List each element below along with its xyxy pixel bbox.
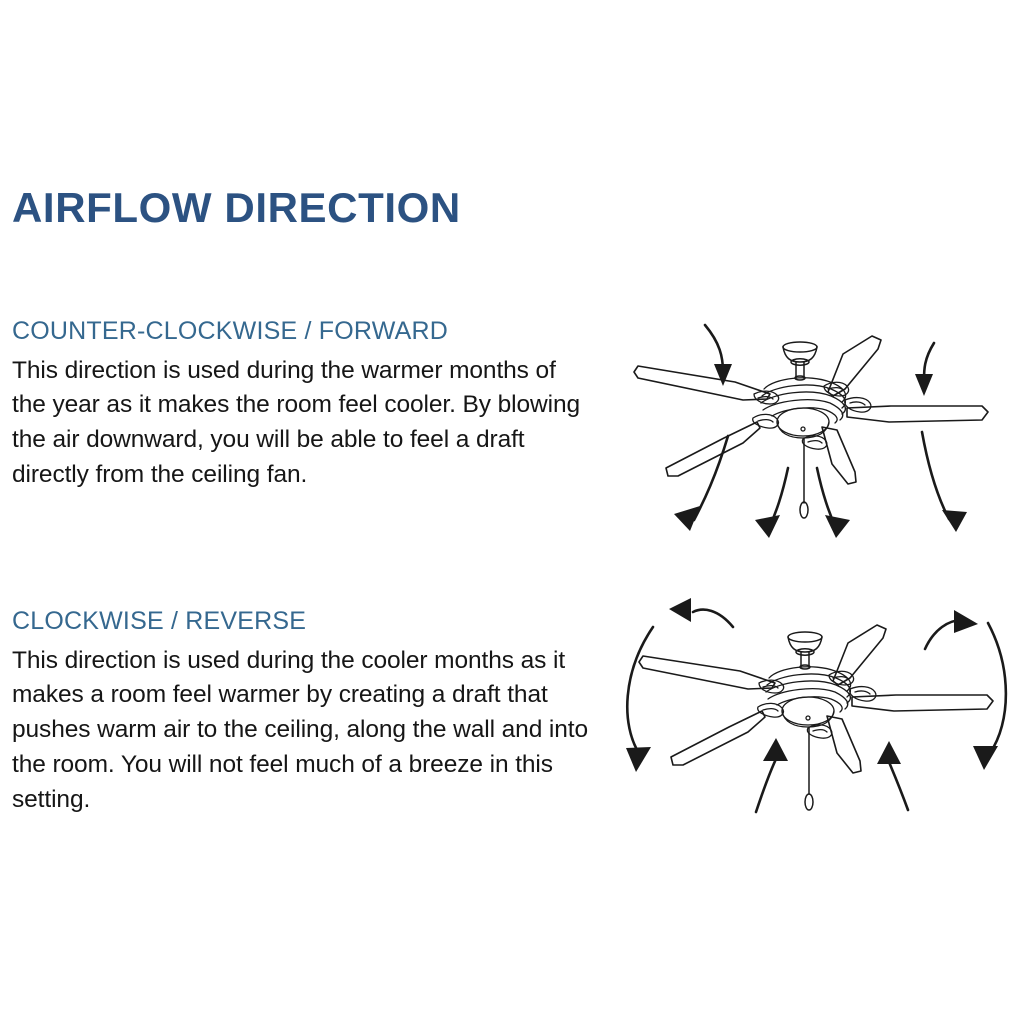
air-intake-arrow-top-left: [705, 325, 732, 386]
page-title: AIRFLOW DIRECTION: [12, 186, 461, 230]
air-intake-arrow-top-right: [915, 343, 934, 396]
section-heading-clockwise-reverse: CLOCKWISE / REVERSE: [12, 608, 592, 636]
ceiling-fan-downdraft-diagram: [604, 316, 1016, 568]
fan-canopy-downrod: [788, 632, 822, 669]
downdraft-arrow-right: [922, 432, 967, 532]
section-clockwise-reverse: CLOCKWISE / REVERSE This direction is us…: [12, 608, 592, 817]
ceiling-arrow-top-left: [669, 598, 733, 627]
section-counter-clockwise-forward: COUNTER-CLOCKWISE / FORWARD This directi…: [12, 318, 592, 493]
airflow-direction-infographic: AIRFLOW DIRECTION COUNTER-CLOCKWISE / FO…: [0, 0, 1024, 1024]
fan-blades: [639, 625, 993, 773]
updraft-arrow-center-left: [756, 738, 788, 812]
downdraft-arrow-center-left: [755, 468, 788, 538]
fan-pull-chain: [805, 727, 813, 810]
downdraft-arrow-center-right: [817, 468, 850, 538]
section-body-counter-clockwise-forward: This direction is used during the warmer…: [12, 354, 582, 493]
ceiling-arrow-top-right: [925, 610, 978, 649]
wall-arrow-left-down: [626, 627, 653, 772]
updraft-arrow-center-right: [877, 741, 908, 810]
fan-pull-chain: [800, 438, 808, 518]
updraft-diagram-svg: [598, 596, 1022, 832]
section-heading-counter-clockwise-forward: COUNTER-CLOCKWISE / FORWARD: [12, 318, 592, 346]
downdraft-diagram-svg: [604, 316, 1016, 568]
section-body-clockwise-reverse: This direction is used during the cooler…: [12, 644, 590, 818]
ceiling-fan-updraft-diagram: [598, 596, 1022, 832]
fan-canopy-downrod: [783, 342, 817, 380]
